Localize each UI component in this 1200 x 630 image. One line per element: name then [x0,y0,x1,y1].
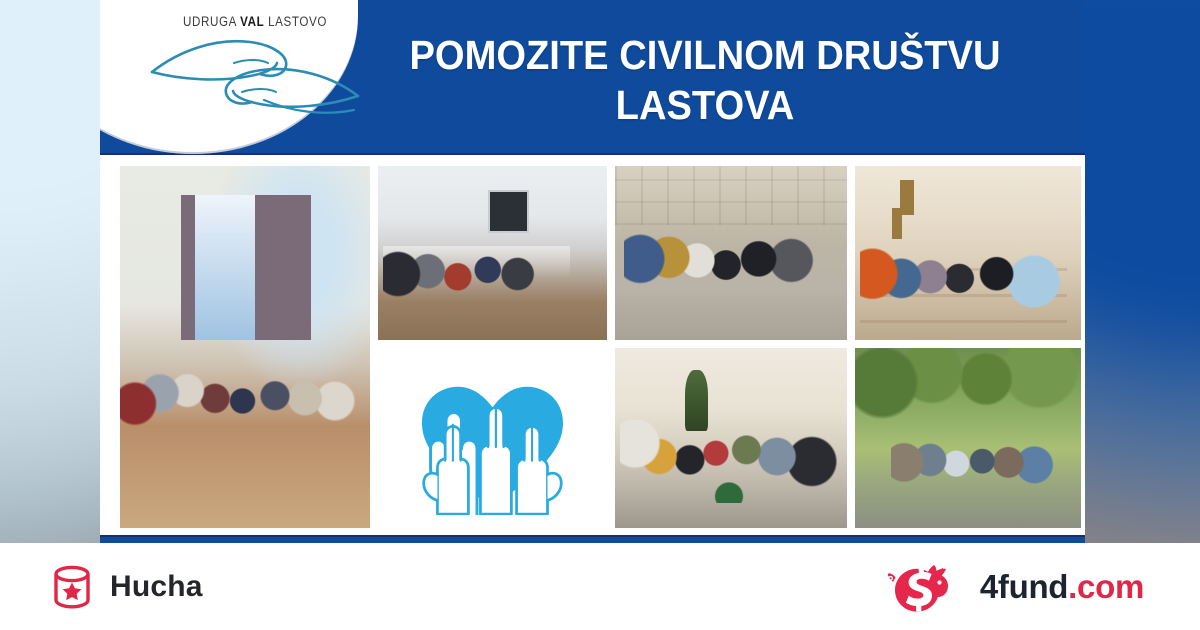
poster-header-band: UDRUGA VAL LASTOVO POMOZITE CI [100,0,1085,155]
photo-image [378,348,607,528]
collage-photo-chapel [855,166,1081,340]
photo-collage-grid [120,166,1065,528]
photo-image [855,166,1081,340]
logo-word-val: VAL [240,14,264,29]
photo-image [615,166,847,340]
collage-photo-gathering [120,166,370,528]
photo-image [615,348,847,528]
campaign-poster: UDRUGA VAL LASTOVO POMOZITE CI [100,0,1085,543]
headline-line-1: POMOZITE CIVILNOM DRUŠTVU [409,30,1000,80]
photo-image [855,348,1081,528]
logo-word-lastovo: LASTOVO [264,14,327,29]
brand-logo-group[interactable]: 4fund.com [882,559,1144,615]
brand-tld: .com [1068,568,1144,605]
logo-word-udruga: UDRUGA [183,14,240,29]
photo-image [378,166,607,340]
collage-illustration-hands-heart [378,348,607,528]
headline-line-2: LASTOVA [616,80,795,130]
photo-image [120,166,370,528]
moneybox-label-group: Hucha [52,565,203,609]
poster-bottom-rule [100,535,1085,543]
collage-photo-street-procession [615,166,847,340]
collage-photo-christmas-hall [615,348,847,528]
hands-heart-icon [394,361,591,516]
collage-photo-nature-walk [855,348,1081,528]
card-footer-bar: Hucha 4fund.com [0,543,1200,630]
moneybox-title: Hucha [110,570,203,604]
brand-name: 4fund [980,568,1068,605]
campaign-cover-image: UDRUGA VAL LASTOVO POMOZITE CI [0,0,1200,543]
organization-logo-text: UDRUGA VAL LASTOVO [165,14,346,29]
brand-wordmark: 4fund.com [980,568,1144,606]
donation-tin-icon [52,565,92,609]
piggy-bank-icon [882,559,968,615]
poster-headline: POMOZITE CIVILNOM DRUŠTVU LASTOVA [380,20,1031,140]
cupped-hands-icon [146,30,364,130]
collage-photo-meeting [378,166,607,340]
social-share-card: UDRUGA VAL LASTOVO POMOZITE CI [0,0,1200,630]
